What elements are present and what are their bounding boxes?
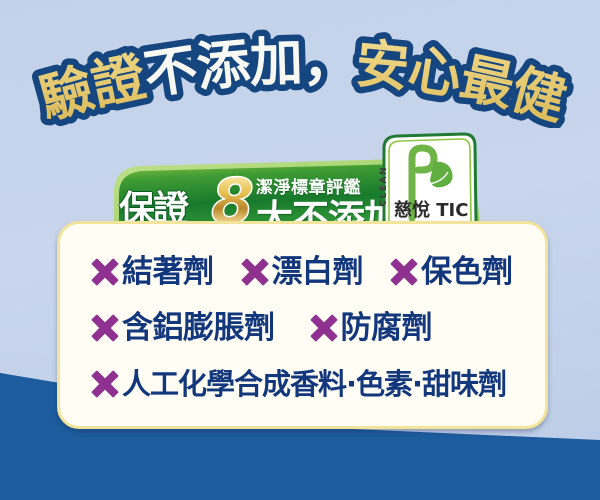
x-mark-icon (90, 313, 120, 343)
logo-vertical-text: CLEAN (380, 166, 389, 207)
table-row: 人工化學合成香料·色素·甜味劑 (78, 360, 531, 408)
additive-label: 結著劑 (122, 257, 214, 288)
table-row: 含鋁膨脹劑防腐劑 (78, 304, 531, 352)
table-row: 結著劑漂白劑保色劑 (78, 248, 531, 296)
list-item: 漂白劑 (240, 257, 364, 288)
x-mark-icon (90, 257, 120, 287)
list-item: 保色劑 (389, 257, 513, 288)
additive-label: 漂白劑 (272, 257, 364, 288)
additives-card: 結著劑漂白劑保色劑 含鋁膨脹劑防腐劑 人工化學合成香料·色素·甜味劑 (57, 221, 548, 429)
additives-list: 結著劑漂白劑保色劑 含鋁膨脹劑防腐劑 人工化學合成香料·色素·甜味劑 (60, 224, 545, 426)
poster-root: 驗證不添加，安心最健康 驗證不添加，安心最健康 (0, 0, 600, 500)
x-mark-icon (90, 369, 120, 399)
additive-label: 防腐劑 (341, 313, 433, 344)
additive-label: 保色劑 (421, 257, 513, 288)
svg-text:驗證不添加，安心最健康: 驗證不添加，安心最健康 (0, 18, 572, 128)
list-item: 含鋁膨脹劑 (90, 313, 275, 344)
x-mark-icon (240, 257, 270, 287)
list-item: 防腐劑 (309, 313, 433, 344)
additive-label: 人工化學合成香料·色素·甜味劑 (122, 370, 506, 399)
additive-label: 含鋁膨脹劑 (122, 313, 275, 344)
svg-text:驗證不添加，安心最健康: 驗證不添加，安心最健康 (0, 18, 572, 128)
list-item: 結著劑 (90, 257, 214, 288)
list-item: 人工化學合成香料·色素·甜味劑 (90, 369, 506, 399)
x-mark-icon (309, 313, 339, 343)
logo-name: 慈悅 TIC (394, 202, 468, 220)
page-title: 驗證不添加，安心最健康 驗證不添加，安心最健康 (0, 18, 600, 128)
x-mark-icon (389, 257, 419, 287)
